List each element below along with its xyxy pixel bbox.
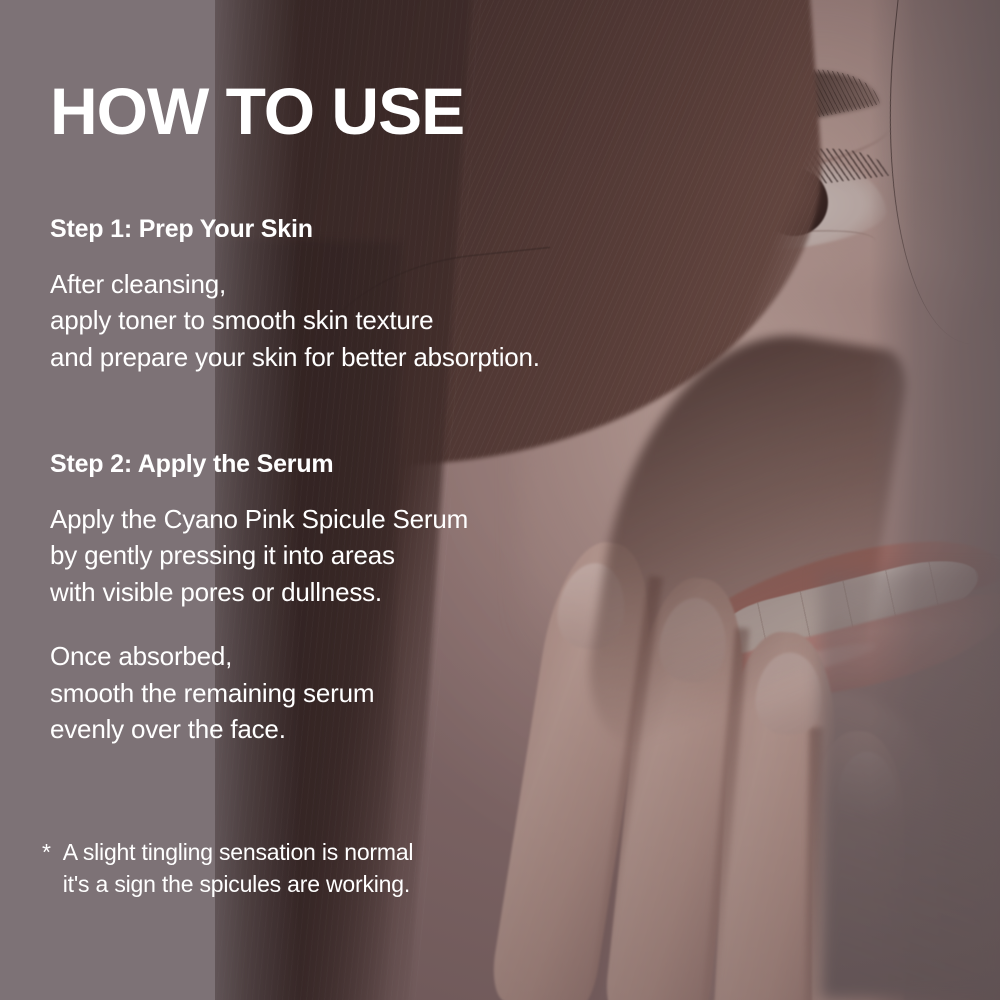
step-2-paragraph-1: Apply the Cyano Pink Spicule Serum by ge…: [50, 501, 930, 610]
step-1-line-1: After cleansing,: [50, 266, 930, 302]
step-2-heading: Step 2: Apply the Serum: [50, 449, 930, 479]
footnote-text: A slight tingling sensation is normal it…: [63, 836, 414, 900]
paragraph-spacer: [50, 610, 930, 638]
footnote: * A slight tingling sensation is normal …: [42, 836, 922, 900]
step-2-p2-line-3: evenly over the face.: [50, 711, 930, 747]
step-1-body: After cleansing, apply toner to smooth s…: [50, 266, 930, 375]
footnote-asterisk: *: [42, 836, 51, 900]
step-2-paragraph-2: Once absorbed, smooth the remaining seru…: [50, 638, 930, 747]
step-1-line-2: apply toner to smooth skin texture: [50, 302, 930, 338]
step-1-heading: Step 1: Prep Your Skin: [50, 214, 930, 244]
step-2-p1-line-3: with visible pores or dullness.: [50, 574, 930, 610]
step-2-p2-line-1: Once absorbed,: [50, 638, 930, 674]
footnote-line-2: it's a sign the spicules are working.: [63, 868, 414, 900]
step-1-line-3: and prepare your skin for better absorpt…: [50, 339, 930, 375]
step-2-p1-line-1: Apply the Cyano Pink Spicule Serum: [50, 501, 930, 537]
step-2-p1-line-2: by gently pressing it into areas: [50, 537, 930, 573]
step-1-block: Step 1: Prep Your Skin After cleansing, …: [50, 214, 930, 375]
how-to-use-graphic: HOW TO USE Step 1: Prep Your Skin After …: [0, 0, 1000, 1000]
instructions-content: HOW TO USE Step 1: Prep Your Skin After …: [50, 0, 980, 1000]
step-2-block: Step 2: Apply the Serum Apply the Cyano …: [50, 449, 930, 747]
footnote-line-1: A slight tingling sensation is normal: [63, 836, 414, 868]
page-title: HOW TO USE: [50, 78, 464, 144]
step-2-p2-line-2: smooth the remaining serum: [50, 675, 930, 711]
